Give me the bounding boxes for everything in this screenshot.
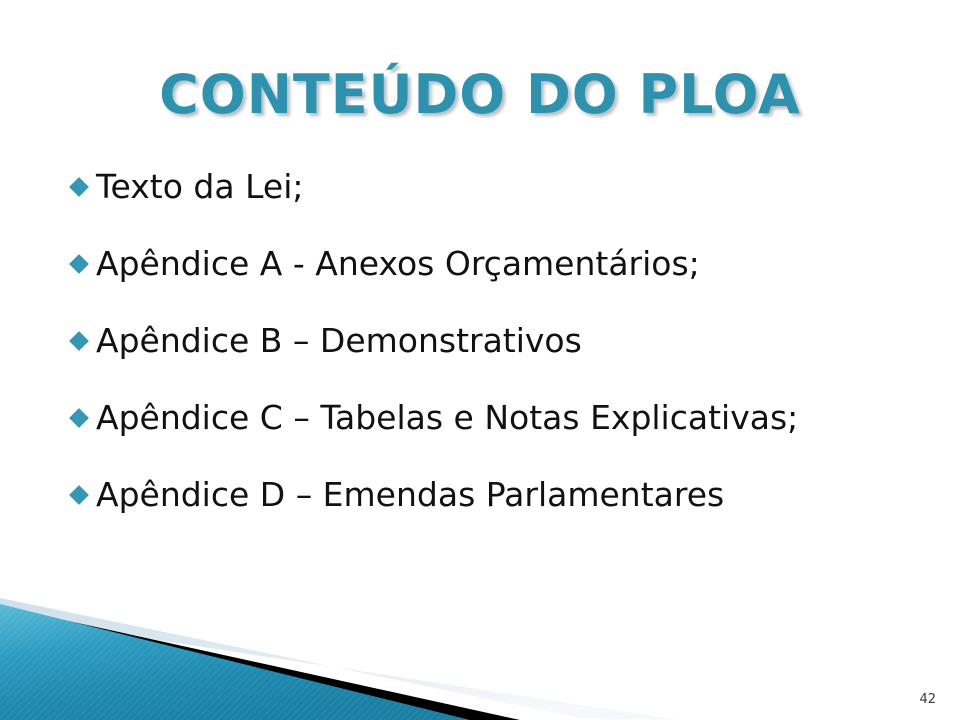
bullet-list: Texto da Lei; Apêndice A - Anexos Orçame…	[68, 156, 948, 541]
list-item-label: Apêndice C – Tabelas e Notas Explicativa…	[96, 400, 798, 436]
list-item-label: Apêndice D – Emendas Parlamentares	[96, 477, 724, 513]
list-item-label: Apêndice A - Anexos Orçamentários;	[96, 246, 700, 282]
diamond-bullet-icon	[69, 177, 89, 197]
diamond-bullet-icon	[69, 254, 89, 274]
list-item: Apêndice D – Emendas Parlamentares	[68, 464, 948, 526]
list-item: Apêndice B – Demonstrativos	[68, 310, 948, 372]
page-title: CONTEÚDO DO PLOA	[0, 63, 960, 126]
diamond-bullet-icon	[69, 485, 89, 505]
list-item: Texto da Lei;	[68, 156, 948, 218]
page-number: 42	[919, 692, 936, 707]
list-item-label: Texto da Lei;	[96, 169, 303, 205]
list-item: Apêndice A - Anexos Orçamentários;	[68, 233, 948, 295]
diamond-bullet-icon	[69, 408, 89, 428]
diamond-bullet-icon	[69, 331, 89, 351]
bottom-left-diagonal-banner-icon	[0, 590, 680, 720]
slide-canvas: CONTEÚDO DO PLOA Texto da Lei; Apêndice …	[0, 0, 960, 720]
list-item: Apêndice C – Tabelas e Notas Explicativa…	[68, 387, 948, 449]
list-item-label: Apêndice B – Demonstrativos	[96, 323, 582, 359]
